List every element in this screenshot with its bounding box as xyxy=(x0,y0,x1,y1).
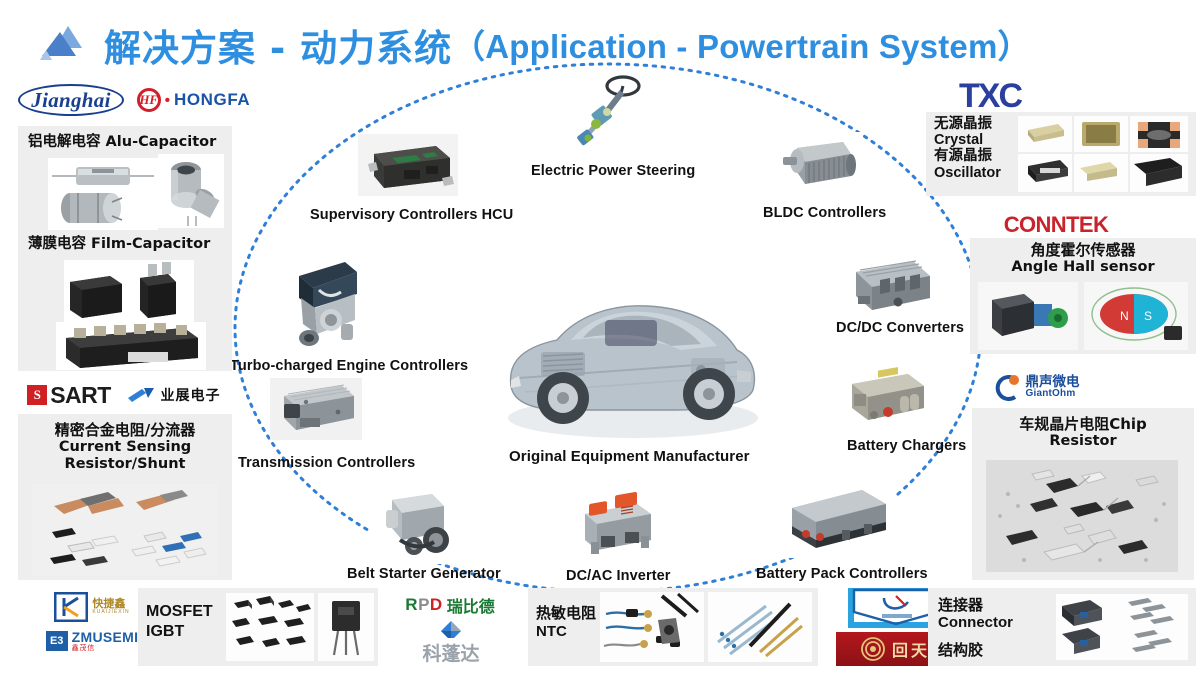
zmusemi-sub: 鑫茂信 xyxy=(72,645,95,652)
kuaijiexin-sub: KUAIJIEXIN xyxy=(92,610,129,616)
chip-resistor-scatter-photo xyxy=(986,460,1178,572)
mosfet-label: MOSFET xyxy=(146,602,213,622)
hongfa-mark: HF xyxy=(137,88,161,112)
bldc-motor-photo xyxy=(777,132,861,198)
alu-capacitor-images xyxy=(48,158,158,230)
zmusemi-mark: E3 xyxy=(46,631,68,651)
sart-mark: S xyxy=(27,385,47,405)
rpd-text-zh: 瑞比德 xyxy=(447,593,495,617)
txc-line-1: 无源晶振 xyxy=(934,116,1014,132)
capacitors-panel: 铝电解电容 Alu-Capacitor 薄膜电容 Film-Capacitor xyxy=(18,126,232,371)
chip-resistor-panel: 车规晶片电阻Chip Resistor xyxy=(972,408,1194,580)
kuaijiexin-mark-icon xyxy=(54,592,88,622)
hall-sensor-title-en: Angle Hall sensor xyxy=(970,259,1196,276)
kuaijiexin-logo: 快捷鑫 KUAIJIEXIN xyxy=(42,590,142,624)
mosfet-igbt-panel: MOSFET IGBT xyxy=(138,588,378,666)
hongfa-logo-text: HONGFA xyxy=(174,90,250,110)
cutaway-car-photo xyxy=(485,258,775,448)
txc-logo-text: TXC xyxy=(959,77,1021,116)
svg-text:N: N xyxy=(1120,309,1129,323)
adhesive-label-zh: 结构胶 xyxy=(938,641,1013,659)
kelongda-mark-icon xyxy=(434,620,468,638)
angle-hall-sensor-panel: 角度霍尔传感器 Angle Hall sensor N S xyxy=(970,238,1196,354)
sart-logo: S SART xyxy=(14,382,124,408)
label-supervisory-controllers-hcu: Supervisory Controllers HCU xyxy=(310,207,513,223)
ecu-module-photo xyxy=(358,134,458,196)
label-bldc-controllers: BLDC Controllers xyxy=(763,205,886,221)
yezhan-mark-icon xyxy=(126,386,156,404)
yezhan-logo: 业展电子 xyxy=(118,382,228,408)
hongfa-logo: HF • HONGFA xyxy=(136,86,251,114)
txc-line-4: Oscillator xyxy=(934,165,1014,181)
giantohm-text-zh: 鼎声微电 xyxy=(1026,375,1080,389)
current-sensing-panel: 精密合金电阻/分流器 Current Sensing Resistor/Shun… xyxy=(18,414,232,580)
giantohm-logo: 鼎声微电 GiantOhm xyxy=(972,370,1102,404)
label-electric-power-steering: Electric Power Steering xyxy=(531,163,695,179)
label-turbo-engine-controllers: Turbo-charged Engine Controllers xyxy=(230,358,468,374)
label-dcac-inverter: DC/AC Inverter xyxy=(566,568,671,584)
rpd-logo-text: RPD xyxy=(405,595,442,615)
giantohm-text-en: GiantOhm xyxy=(1026,389,1076,400)
film-capacitor-title: 薄膜电容 Film-Capacitor xyxy=(28,236,210,253)
svg-text:S: S xyxy=(1144,309,1152,323)
connector-label-zh: 连接器 xyxy=(938,596,1013,614)
hall-sensor-images: N S xyxy=(978,282,1188,350)
kelongda-logo: 科蓬达 xyxy=(396,620,506,666)
transmission-ecu-photo xyxy=(270,378,362,440)
steering-column-photo xyxy=(566,72,652,156)
hongtian-spiral-icon xyxy=(860,636,886,662)
chip-resistor-title-zh: 车规晶片电阻Chip xyxy=(972,408,1194,433)
mosfet-igbt-images xyxy=(226,593,374,661)
starter-generator-photo xyxy=(370,480,470,564)
yezhan-logo-text: 业展电子 xyxy=(161,385,221,405)
ntc-label-en: NTC xyxy=(536,623,596,642)
ntc-panel: 热敏电阻 NTC xyxy=(528,588,818,666)
label-dcdc-converters: DC/DC Converters xyxy=(836,320,964,336)
txc-line-2: Crystal xyxy=(934,132,1014,148)
dc-link-capacitor-photo xyxy=(56,322,206,370)
dcdc-converter-photo xyxy=(838,254,938,324)
hongtian-text: 回天 xyxy=(892,637,930,661)
snap-in-capacitor-photo xyxy=(158,154,224,228)
ntc-label-zh: 热敏电阻 xyxy=(536,604,596,623)
current-sensing-title-en-2: Resistor/Shunt xyxy=(18,456,232,473)
ntc-product-images xyxy=(600,592,812,662)
battery-charger-photo xyxy=(836,366,940,438)
zmusemi-text: ZMUSEMI xyxy=(72,630,139,645)
giantohm-mark-icon xyxy=(995,373,1021,401)
label-battery-chargers: Battery Chargers xyxy=(847,438,966,454)
engine-photo xyxy=(285,250,369,354)
hall-sensor-title-zh: 角度霍尔传感器 xyxy=(970,238,1196,259)
kelongda-text-zh: 科蓬达 xyxy=(422,639,479,666)
label-battery-pack-controllers: Battery Pack Controllers xyxy=(756,566,928,582)
txc-product-images xyxy=(1018,116,1190,192)
battery-pack-photo xyxy=(776,478,896,558)
hongfa-dot: • xyxy=(165,92,170,109)
current-sensing-title-en-1: Current Sensing xyxy=(18,439,232,456)
txc-panel: 无源晶振 Crystal 有源晶振 Oscillator xyxy=(926,112,1196,196)
connector-images xyxy=(1056,594,1188,660)
inverter-photo xyxy=(567,492,665,564)
zmusemi-logo: E3 ZMUSEMI 鑫茂信 xyxy=(42,626,142,656)
conntek-logo: CONNTEK xyxy=(986,212,1126,238)
label-belt-starter-generator: Belt Starter Generator xyxy=(347,566,501,582)
conntek-logo-text: CONNTEK xyxy=(1004,212,1109,238)
label-original-equipment-manufacturer: Original Equipment Manufacturer xyxy=(509,448,750,465)
connector-panel: 连接器 Connector 结构胶 xyxy=(928,588,1196,666)
current-sensing-images xyxy=(32,484,218,576)
igbt-label: IGBT xyxy=(146,622,213,642)
jianghai-logo-text: Jianghai xyxy=(31,88,110,113)
triangle-mountain-logo xyxy=(38,22,100,62)
sart-logo-text: SART xyxy=(50,382,111,409)
chip-resistor-title-en: Resistor xyxy=(972,433,1194,450)
current-sensing-title-zh: 精密合金电阻/分流器 xyxy=(18,414,232,439)
jianghai-logo: Jianghai xyxy=(18,84,124,116)
alu-capacitor-title: 铝电解电容 Alu-Capacitor xyxy=(18,126,232,151)
film-capacitor-images xyxy=(64,260,194,324)
txc-line-3: 有源晶振 xyxy=(934,148,1014,164)
connector-label-en: Connector xyxy=(938,614,1013,632)
label-transmission-controllers: Transmission Controllers xyxy=(238,455,415,471)
rpd-logo: RPD 瑞比德 xyxy=(394,592,506,618)
